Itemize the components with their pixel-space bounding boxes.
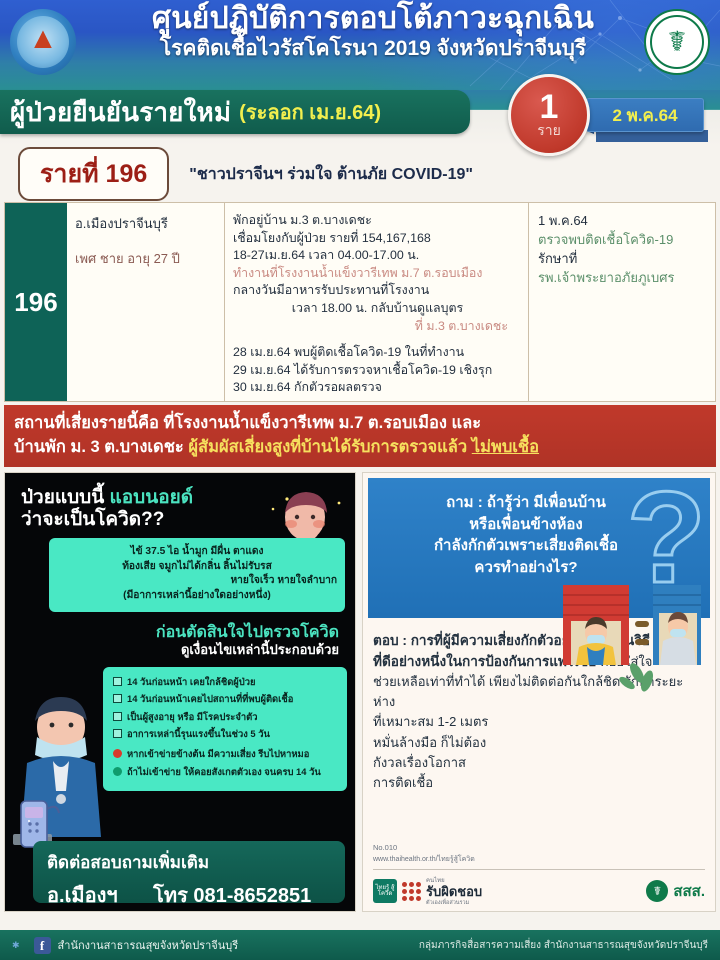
contact-title: ติดต่อสอบถามเพิ่มเติม [47,849,345,876]
checkbox-icon[interactable] [113,694,122,703]
case-number-badge-label: รายที่ 196 [40,160,147,188]
checklist-item[interactable]: 14 วันก่อนหน้า เคยใกล้ชิดผู้ป่วย [113,675,339,688]
headline-part-b: แอบนอยด์ [110,487,194,508]
symptom-checklist-poster: ป่วยแบบนี้ แอบนอยด์ ว่าจะเป็นโควิด?? [4,472,356,912]
answer-line: หมั่นล้างมือ ก็ไม่ต้อง [373,733,705,753]
brand-row: ไทยรู้ สู้โควิด คนไทย รับผิดชอบ ตัวเองเพ… [373,875,705,907]
case-count-circle: 1 ราย [508,74,590,156]
neighbors-window-illustration [557,581,707,697]
before-testing-title: ก่อนตัดสินใจไปตรวจโควิด [5,623,339,642]
green-bullet-icon [113,767,122,776]
case-demographics: เพศ ชาย อายุ 27 ปี [75,248,218,269]
case-hospital-cell: 1 พ.ค.64 ตรวจพบติดเชื้อโควิด-19 รักษาที่… [529,203,715,401]
symptom-note: (มีอาการเหล่านี้อย่างใดอย่างหนึ่ง) [57,589,337,604]
symptom-line: ท้องเสีย จมูกไม่ได้กลิ่น ลิ้นไม่รับรส [57,560,337,575]
case-timeline-cell: พักอยู่บ้าน ม.3 ต.บางเดชะ เชื่อมโยงกับผู… [225,203,529,401]
treatment-label: รักษาที่ [538,250,709,269]
answer-line: ที่เหมาะสม 1-2 เมตร [373,712,705,732]
campaign-slogan: "ชาวปราจีนฯ ร่วมใจ ต้านภัย COVID-19" [189,162,473,187]
timeline-line: 29 เม.ย.64 ได้รับการตรวจหาเชื้อโควิด-19 … [233,362,522,380]
answer-line: กังวลเรื่องโอกาส [373,753,705,773]
timeline-line: พักอยู่บ้าน ม.3 ต.บางเดชะ [233,212,522,230]
document-number: No.010 [373,843,705,852]
symptom-line: หายใจเร็ว หายใจลำบาก [57,574,337,589]
poster-footer: No.010 www.thaihealth.or.th/ไทยรู้สู้โคว… [363,843,715,907]
brand-logo-square: ไทยรู้ สู้โควิด [373,879,397,903]
symptom-list-box: ไข้ 37.5 ไอ น้ำมูก มีผื่น ตาแดง ท้องเสีย… [49,538,345,612]
timeline-line-home: ที่ ม.3 ต.บางเดชะ [233,318,522,336]
case-number-cell: 196 [5,203,67,401]
brand-small-bottom: ตัวเองเพื่อส่วนรวม [426,899,482,907]
risk-alert-contacts: ผู้สัมผัสเสี่ยงสูงที่บ้านได้รับการตรวจแล… [188,438,471,456]
asterisk-decoration: ✱ [12,940,20,951]
brand-dots-decoration [402,882,421,901]
case-detail-table: 196 อ.เมืองปราจีนบุรี เพศ ชาย อายุ 27 ปี… [4,202,716,402]
page-footer: ✱ f สำนักงานสาธารณสุขจังหวัดปราจีนบุรี ก… [0,930,720,960]
contact-details: อ.เมืองฯ โทร 081-8652851 [47,879,345,911]
advice-label: หากเข้าข่ายข้างต้น มีความเสี่ยง รีบไปหาห… [127,747,309,760]
facebook-icon[interactable]: f [34,937,51,954]
contact-office: อ.เมืองฯ [47,885,118,907]
testing-criteria-checklist: 14 วันก่อนหน้า เคยใกล้ชิดผู้ป่วย 14 วันก… [103,667,347,791]
divider [373,869,705,870]
case-district: อ.เมืองปราจีนบุรี [75,213,218,234]
risk-alert-line2: บ้านพัก ม. 3 ต.บางเดชะ ผู้สัมผัสเสี่ยงสู… [14,436,706,460]
timeline-line-workplace: ทำงานที่โรงงานน้ำแข็งวารีเทพ ม.7 ต.รอบเม… [233,265,522,283]
thai-ru-su-covid-brand: ไทยรู้ สู้โควิด คนไทย รับผิดชอบ ตัวเองเพ… [373,875,482,907]
hospital-name: รพ.เจ้าพระยาอภัยภูเบศร [538,269,709,288]
sss-label: สสส. [673,879,705,903]
banner-row: ผู้ป่วยยืนยันรายใหม่ (ระลอก เม.ย.64) 2 พ… [0,90,720,146]
question-line: หรือเพื่อนข้างห้อง [378,514,674,536]
contact-phone[interactable]: โทร 081-8652851 [153,885,311,907]
sss-logo-icon: ☤ [646,880,668,902]
checklist-item[interactable]: อาการเหล่านี้รุนแรงขึ้นในช่วง 5 วัน [113,727,339,740]
infographic-page: ▲ ศูนย์ปฏิบัติการตอบโต้ภาวะฉุกเฉิน โรคติ… [0,0,720,960]
slogan-row: รายที่ 196 "ชาวปราจีนฯ ร่วมใจ ต้านภัย CO… [0,146,720,202]
risk-alert-result: ไม่พบเชื้อ [472,438,539,456]
header: ▲ ศูนย์ปฏิบัติการตอบโต้ภาวะฉุกเฉิน โรคติ… [0,0,720,90]
checklist-label: 14 วันก่อนหน้าเคยไปสถานที่ที่พบผู้ติดเชื… [127,692,293,705]
advice-item-risk: หากเข้าข่ายข้างต้น มีความเสี่ยง รีบไปหาห… [113,747,339,760]
risk-location-alert: สถานที่เสี่ยงรายนี้คือ ที่โรงงานน้ำแข็งว… [4,405,716,467]
checkbox-icon[interactable] [113,677,122,686]
detection-date: 1 พ.ค.64 [538,212,709,231]
checkbox-icon[interactable] [113,729,122,738]
advice-label: ถ้าไม่เข้าข่าย ให้คอยสังเกตตัวเอง จนครบ … [127,765,321,778]
question-line: กำลังกักตัวเพราะเสี่ยงติดเชื้อ [378,535,674,557]
date-badge: 2 พ.ค.64 [586,98,704,132]
qa-poster: ? ถาม : ถ้ารู้ว่า มีเพื่อนบ้าน หรือเพื่อ… [362,472,716,912]
timeline-line: 18-27เม.ย.64 เวลา 04.00-17.00 น. [233,247,522,265]
sss-brand: ☤ สสส. [646,879,705,903]
timeline-line: 28 เม.ย.64 พบผู้ติดเชื้อโควิด-19 ในที่ทำ… [233,344,522,362]
timeline-line: กลางวันมีอาหารรับประทานที่โรงงาน [233,282,522,300]
checklist-item[interactable]: เป็นผู้สูงอายุ หรือ มีโรคประจำตัว [113,710,339,723]
timeline-line: เวลา 18.00 น. กลับบ้านดูแลบุตร [233,300,522,318]
symptom-line: ไข้ 37.5 ไอ น้ำมูก มีผื่น ตาแดง [57,545,337,560]
question-line: ควรทำอย่างไร? [378,557,674,579]
risk-alert-home: บ้านพัก ม. 3 ต.บางเดชะ [14,438,188,456]
case-count-unit: ราย [537,123,561,138]
timeline-line: 30 เม.ย.64 กักตัวรอผลตรวจ [233,379,522,397]
infographic-panels: ป่วยแบบนี้ แอบนอยด์ ว่าจะเป็นโควิด?? [4,472,716,912]
case-number-badge: รายที่ 196 [18,147,169,201]
banner-sub-label: (ระลอก เม.ย.64) [239,96,381,128]
header-title-line1: ศูนย์ปฏิบัติการตอบโต้ภาวะฉุกเฉิน [26,2,720,36]
red-bullet-icon [113,749,122,758]
footer-credit: กลุ่มภารกิจสื่อสารความเสี่ยง สำนักงานสาธ… [419,938,708,953]
question-text: ถาม : ถ้ารู้ว่า มีเพื่อนบ้าน หรือเพื่อนข… [378,492,700,578]
brand-texts: คนไทย รับผิดชอบ ตัวเองเพื่อส่วนรวม [426,875,482,907]
checklist-label: เป็นผู้สูงอายุ หรือ มีโรคประจำตัว [127,710,257,723]
checkbox-icon[interactable] [113,712,122,721]
timeline-line: เชื่อมโยงกับผู้ป่วย รายที่ 154,167,168 [233,230,522,248]
advice-item-norisk: ถ้าไม่เข้าข่าย ให้คอยสังเกตตัวเอง จนครบ … [113,765,339,778]
date-badge-label: 2 พ.ค.64 [612,102,677,129]
brand-main-label: รับผิดชอบ [426,885,482,899]
facebook-page-name[interactable]: สำนักงานสาธารณสุขจังหวัดปราจีนบุรี [58,936,239,954]
contact-bar: ติดต่อสอบถามเพิ่มเติม อ.เมืองฯ โทร 081-8… [33,841,345,903]
new-cases-banner: ผู้ป่วยยืนยันรายใหม่ (ระลอก เม.ย.64) [0,90,470,134]
moph-seal-icon: ☤ [644,9,710,75]
source-url[interactable]: www.thaihealth.or.th/ไทยรู้สู้โควิด [373,854,705,865]
answer-line: การติดเชื้อ [373,773,705,793]
checklist-label: 14 วันก่อนหน้า เคยใกล้ชิดผู้ป่วย [127,675,256,688]
headline-part-a: ป่วยแบบนี้ [21,487,110,508]
header-title-line2: โรคติดเชื้อไวรัสโคโรนา 2019 จังหวัดปราจี… [26,36,720,62]
risk-alert-line1: สถานที่เสี่ยงรายนี้คือ ที่โรงงานน้ำแข็งว… [14,412,706,436]
case-count-number: 1 [540,91,559,123]
before-testing-subtitle: ดูเงื่อนไขเหล่านี้ประกอบด้วย [5,642,339,659]
case-area-cell: อ.เมืองปราจีนบุรี เพศ ชาย อายุ 27 ปี [67,203,225,401]
checklist-item[interactable]: 14 วันก่อนหน้าเคยไปสถานที่ที่พบผู้ติดเชื… [113,692,339,705]
before-testing-heading: ก่อนตัดสินใจไปตรวจโควิด ดูเงื่อนไขเหล่าน… [5,623,347,659]
question-line: ถาม : ถ้ารู้ว่า มีเพื่อนบ้าน [378,492,674,514]
detection-result: ตรวจพบติดเชื้อโควิด-19 [538,231,709,250]
checklist-label: อาการเหล่านี้รุนแรงขึ้นในช่วง 5 วัน [127,727,270,740]
header-titles: ศูนย์ปฏิบัติการตอบโต้ภาวะฉุกเฉิน โรคติดเ… [0,2,720,62]
banner-main-label: ผู้ป่วยยืนยันรายใหม่ [10,92,231,133]
